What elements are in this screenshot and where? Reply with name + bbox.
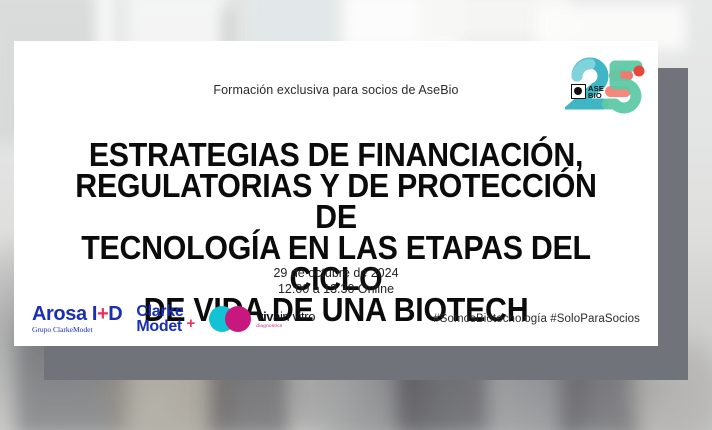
eyebrow-text: Formación exclusiva para socios de AseBi… [14, 83, 658, 97]
page-title: ESTRATEGIAS DE FINANCIACIÓN, REGULATORIA… [66, 139, 607, 325]
event-time: 12:00 a 13.30 Online [14, 281, 658, 297]
clarke-modet-logo: Clarke Modet + [136, 304, 195, 334]
viva-in-vitro-logo: vivain vitro diagnostics [209, 306, 315, 332]
arosa-i-d-logo: Arosa I+D Grupo ClarkeModet [32, 304, 122, 334]
clarke-plus-icon: + [186, 317, 195, 334]
viva-tagline: diagnostics [256, 324, 315, 329]
arosa-logo-main: Arosa I+D [32, 304, 122, 324]
viva-circles-icon [209, 306, 253, 332]
asebio-wordmark: ASE BIO [571, 84, 604, 99]
event-date: 29 de octubre de 2024 [14, 265, 658, 281]
asebio-word-line2: BIO [588, 92, 604, 99]
arosa-logo-subtitle: Grupo ClarkeModet [32, 326, 122, 334]
event-card: ASE BIO Formación exclusiva para socios … [14, 41, 658, 346]
clarke-modet-words: Clarke Modet [136, 304, 183, 334]
event-datetime: 29 de octubre de 2024 12:00 a 13.30 Onli… [14, 265, 658, 297]
viva-name: vivain vitro [256, 310, 315, 323]
viva-word1: viva [256, 309, 280, 324]
asebio-square-icon [571, 84, 586, 99]
viva-word2: in vitro [280, 309, 315, 324]
viva-text-block: vivain vitro diagnostics [256, 310, 315, 329]
arosa-plus-icon: + [97, 303, 108, 325]
banner-stage: ASE BIO Formación exclusiva para socios … [0, 0, 712, 430]
arosa-main-end: D [108, 303, 122, 325]
arosa-main-text: Arosa I [32, 303, 97, 325]
sponsor-logo-row: Arosa I+D Grupo ClarkeModet Clarke Modet… [32, 304, 315, 334]
clarke-line1: Clarke [136, 304, 183, 319]
hashtags-text: #SomosBiotecnología #SoloParaSocios [433, 313, 640, 325]
clarke-line2: Modet [136, 319, 183, 334]
asebio-word-text: ASE BIO [588, 85, 604, 99]
viva-circle-magenta [225, 306, 251, 332]
